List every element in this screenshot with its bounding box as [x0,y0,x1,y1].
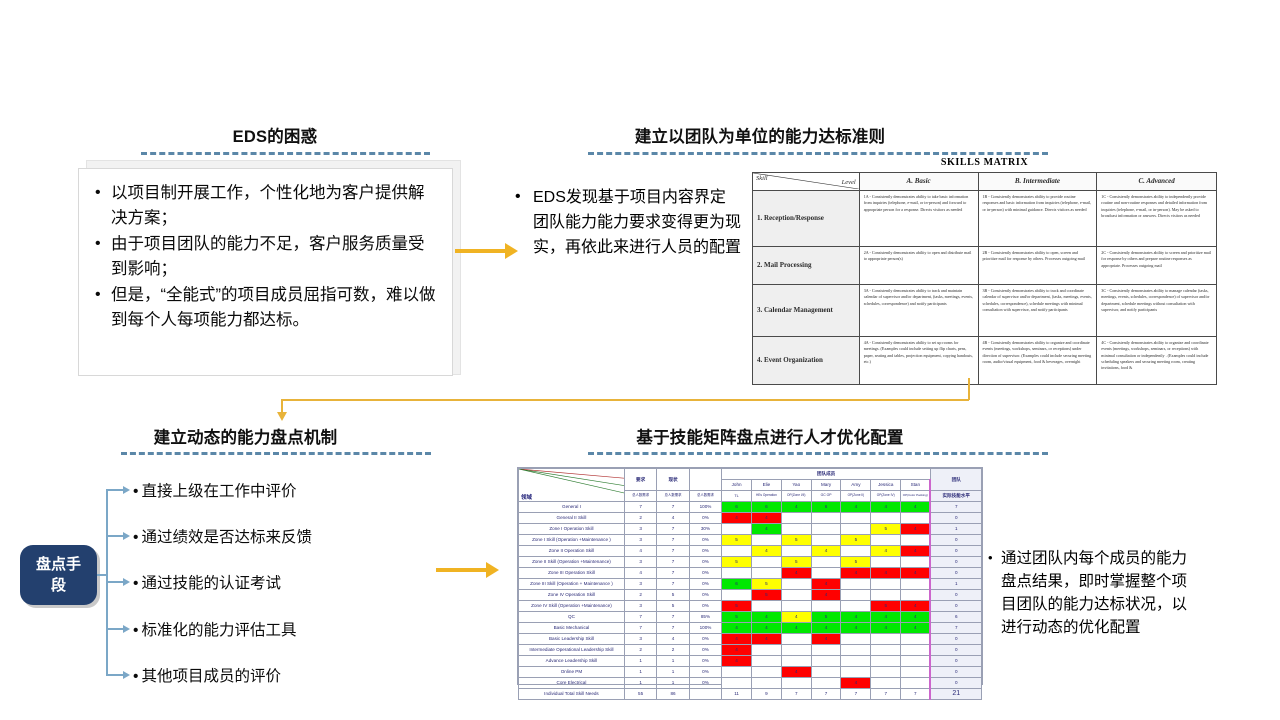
skill-percent: 0% [689,634,721,645]
header-requirement: 要求 [624,469,656,491]
process-item-3: 通过技能的认证考试 [133,571,281,593]
connector-arrow-head [277,412,287,421]
team-skill-level: 1 [930,579,981,590]
skill-level-cell: 4 [901,612,931,623]
skill-level-cell: 5 [871,601,901,612]
skill-level-cell [752,601,782,612]
skill-level-cell [841,634,871,645]
skill-level-cell: 4 [841,502,871,513]
team-skill-level: 0 [930,557,981,568]
process-branch-arrow [123,532,130,540]
process-branch-arrow [123,486,130,494]
skill-level-cell [871,535,901,546]
skill-current: 7 [657,568,689,579]
skill-inventory-table: 领域 要求 现状 团队成员 团队 John Elie Yao Mary Amy … [518,468,982,700]
skill-current: 4 [657,634,689,645]
skill-name: Basic Leadership Skill [519,634,625,645]
skill-current: 7 [657,535,689,546]
skill-required: 2 [624,513,656,524]
team-skill-level: 0 [930,546,981,557]
team-skill-level: 7 [930,623,981,634]
skill-current: 7 [657,502,689,513]
skill-required: 7 [624,502,656,513]
sheet-corner-label: 领域 [521,495,532,501]
table-header-row: 领域 要求 现状 团队成员 团队 [519,469,982,480]
member-name: Elie [752,480,782,491]
matrix-cell: 1A - Consistently demonstrates ability t… [859,190,978,246]
skill-current: 7 [657,546,689,557]
quadrant4-title: 基于技能矩阵盘点进行人才优化配置 [605,424,935,448]
skill-level-cell: 5 [722,612,752,623]
total-member: 11 [722,689,752,700]
skill-required: 7 [624,612,656,623]
skills-matrix: SKILLS MATRIX Skill Level A. Basic B. In… [752,156,1217,376]
total-member: 7 [841,689,871,700]
skill-level-cell [811,601,841,612]
skill-level-cell: 4 [781,568,811,579]
skill-percent: 0% [689,678,721,689]
skill-level-cell [781,601,811,612]
skill-level-cell [841,513,871,524]
table-row: Basic Leadership Skill340%4440 [519,634,982,645]
skill-current: 5 [657,590,689,601]
skill-current: 1 [657,667,689,678]
skill-level-cell: 5 [752,590,782,601]
skill-level-cell: 4 [901,524,931,535]
skill-level-cell [871,557,901,568]
skills-matrix-title: SKILLS MATRIX [752,157,1217,168]
team-skill-level: 0 [930,645,981,656]
skill-level-cell [781,656,811,667]
skill-level-cell: 4 [901,546,931,557]
member-role: HEs Operation [752,491,782,502]
skill-required: 3 [624,535,656,546]
skill-level-cell [781,645,811,656]
skill-level-cell: 4 [781,667,811,678]
skill-percent: 85% [689,612,721,623]
matrix-cell: 1C - Consistently demonstrates ability t… [1097,190,1217,246]
skill-level-cell [752,645,782,656]
skill-level-cell: 4 [811,546,841,557]
team-skill-level: 0 [930,568,981,579]
process-branch [106,535,124,537]
box-to-spine-connector [97,574,107,576]
process-item-2: 通过绩效是否达标来反馈 [133,525,312,547]
arrow-shaft [436,568,488,572]
skill-level-cell: 4 [811,590,841,601]
skill-current: 5 [657,601,689,612]
skill-required: 2 [624,590,656,601]
skill-level-cell [811,678,841,689]
member-role: TL [722,491,752,502]
skill-percent: 100% [689,623,721,634]
member-name: Stan [901,480,931,491]
matrix-level-label: Level [842,178,856,188]
quadrant4-bullet: 通过团队内每个成员的能力盘点结果，即时掌握整个项目团队的能力达标状况，以进行动态… [988,547,1193,639]
member-name: Yao [781,480,811,491]
skill-level-cell [901,656,931,667]
quadrant1-card: 以项目制开展工作，个性化地为客户提供解决方案； 由于项目团队的能力不足，客户服务… [78,168,453,376]
team-skill-level: 6 [930,612,981,623]
skill-level-cell: 4 [811,634,841,645]
connector-vertical-right [968,378,970,400]
table-row: Zone II Operation Skill470%44440 [519,546,982,557]
matrix-cell: 3C - Consistently demonstrates ability t… [1097,284,1217,336]
team-skill-level: 0 [930,513,981,524]
table-row: General II Skill240%440 [519,513,982,524]
skill-level-cell: 4 [722,634,752,645]
skill-level-cell [841,645,871,656]
total-member: 7 [781,689,811,700]
skill-percent: 0% [689,546,721,557]
skill-percent: 0% [689,656,721,667]
total-team: 21 [930,689,981,700]
process-branch-arrow [123,578,130,586]
skill-level-cell [722,667,752,678]
skill-level-cell [722,568,752,579]
team-skill-level: 0 [930,634,981,645]
team-skill-level: 0 [930,667,981,678]
skill-level-cell [871,678,901,689]
skill-level-cell [811,513,841,524]
skill-level-cell: 4 [841,623,871,634]
skill-level-cell: 4 [871,568,901,579]
skill-level-cell [752,656,782,667]
skill-required: 1 [624,678,656,689]
skill-current: 7 [657,623,689,634]
skill-level-cell: 5 [752,579,782,590]
skill-level-cell [901,513,931,524]
skill-name: Advance Leadership Skill [519,656,625,667]
list-item: 以项目制开展工作，个性化地为客户提供解决方案； [91,181,438,231]
matrix-cell: 4B - Consistently demonstrates ability t… [978,336,1097,384]
skill-current: 1 [657,678,689,689]
table-row: Zone III Skill (Operation + Maintenance … [519,579,982,590]
skill-required: 4 [624,568,656,579]
member-name: Amy [841,480,871,491]
skill-level-cell: 4 [752,623,782,634]
skill-level-cell: 4 [752,634,782,645]
total-member: 9 [752,689,782,700]
skill-level-cell [811,557,841,568]
matrix-cell: 3A - Consistently demonstrates ability t… [859,284,978,336]
skill-level-cell [752,535,782,546]
table-total-row: Individual Total Skill Needs558611977777… [519,689,982,700]
quadrant3-divider [121,452,431,455]
quadrant1-bullet-list: 以项目制开展工作，个性化地为客户提供解决方案； 由于项目团队的能力不足，客户服务… [91,181,438,333]
skill-percent: 0% [689,568,721,579]
skill-level-cell [901,579,931,590]
skill-level-cell [722,678,752,689]
skill-level-cell: 4 [752,513,782,524]
matrix-row-label: 2. Mail Processing [753,246,860,284]
header-current: 现状 [657,469,689,491]
table-header-row: Skill Level A. Basic B. Intermediate C. … [753,173,1217,191]
skill-level-cell [841,601,871,612]
skill-current: 7 [657,579,689,590]
skill-level-cell: 4 [752,546,782,557]
skill-name: Zone I Operation Skill [519,524,625,535]
skill-percent: 0% [689,667,721,678]
matrix-cell: 2C - Consistently demonstrates ability t… [1097,246,1217,284]
skill-name: Zone II Operation Skill [519,546,625,557]
table-row: 2. Mail Processing 2A - Consistently dem… [753,246,1217,284]
header-team-members: 团队成员 [722,469,931,480]
skill-required: 3 [624,634,656,645]
skill-name: Zone III Skill (Operation + Maintenance … [519,579,625,590]
skill-level-cell: 6 [752,502,782,513]
skill-level-cell [811,524,841,535]
table-row: Online PM110%40 [519,667,982,678]
quadrant4-divider [588,452,1048,455]
skill-level-cell [901,678,931,689]
inventory-method-label: 盘点手段 [33,554,85,596]
skill-percent: 0% [689,557,721,568]
skill-name: Basic Mechanical [519,623,625,634]
skill-current: 4 [657,513,689,524]
matrix-skill-label: Skill [756,174,768,184]
process-item-1: 直接上级在工作中评价 [133,479,296,501]
skill-name: Zone I Skill (Operation +Maintenance ) [519,535,625,546]
skill-inventory-sheet: 领域 要求 现状 团队成员 团队 John Elie Yao Mary Amy … [517,467,983,685]
skill-level-cell [871,513,901,524]
skill-level-cell [871,656,901,667]
skill-level-cell: 4 [811,623,841,634]
skill-level-cell [841,656,871,667]
skill-name: Zone II Skill (Operation +Maintenance) [519,557,625,568]
arrow-q1-to-q2 [455,243,520,259]
skill-level-cell: 6 [811,502,841,513]
matrix-cell: 4C - Consistently demonstrates ability t… [1097,336,1217,384]
header-pct-blank [689,469,721,491]
skill-current: 7 [657,557,689,568]
process-item-5: 其他项目成员的评价 [133,664,281,686]
skill-level-cell [781,678,811,689]
skill-level-cell: 4 [722,656,752,667]
skill-required: 3 [624,557,656,568]
arrow-q3-to-q4 [436,562,504,578]
skill-percent: 30% [689,524,721,535]
matrix-row-label: 4. Event Organization [753,336,860,384]
skill-level-cell: 4 [781,502,811,513]
table-row: QC7785%54454446 [519,612,982,623]
skill-level-cell: 5 [722,601,752,612]
skill-level-cell [841,524,871,535]
skill-level-cell [781,524,811,535]
table-row: Advance Leadership Skill110%40 [519,656,982,667]
skill-level-cell: 4 [841,612,871,623]
process-branch-arrow [123,625,130,633]
skill-name: Zone IV Operation Skill [519,590,625,601]
team-skill-level: 7 [930,502,981,513]
process-branch [106,489,124,491]
skill-level-cell [781,546,811,557]
skill-name: General II Skill [519,513,625,524]
skill-level-cell: 4 [722,645,752,656]
skill-rows-body: General I77100%66464447General II Skill2… [519,502,982,700]
skill-level-cell: 4 [781,623,811,634]
skill-current: 1 [657,656,689,667]
table-row: Intermediate Operational Leadership Skil… [519,645,982,656]
table-row: 4. Event Organization 4A - Consistently … [753,336,1217,384]
member-role: OP(Zone I/II) [781,491,811,502]
skill-required: 4 [624,546,656,557]
member-role: OP(Zone II) [841,491,871,502]
process-branch [106,628,124,630]
skill-level-cell [901,557,931,568]
skill-level-cell: 5 [722,557,752,568]
skill-name: QC [519,612,625,623]
skill-level-cell [722,590,752,601]
skill-level-cell: 4 [752,612,782,623]
skill-level-cell: 6 [722,579,752,590]
skill-name: General I [519,502,625,513]
skill-level-cell [901,535,931,546]
skill-level-cell: 4 [841,568,871,579]
header-team-col-top: 团队 [930,469,981,491]
skill-level-cell [811,667,841,678]
skill-level-cell: 4 [901,601,931,612]
quadrant2-bullet: EDS发现基于项目内容界定团队能力能力要求变得更为现实，再依此来进行人员的配置 [513,185,741,260]
quadrant2-title: 建立以团队为单位的能力达标准则 [595,123,925,147]
skill-required: 2 [624,645,656,656]
sub-header-cur: 总人数需求 [657,491,689,502]
skill-required: 3 [624,524,656,535]
skill-level-cell [781,579,811,590]
skill-required: 1 [624,656,656,667]
quadrant1-divider [141,152,430,155]
skill-level-cell [811,645,841,656]
skill-level-cell [752,557,782,568]
skill-level-cell [781,513,811,524]
skill-level-cell: 5 [781,557,811,568]
list-item: 但是，“全能式”的项目成员屈指可数，难以做到每个人每项能力都达标。 [91,283,438,333]
corner-diagonal: Skill Level [753,173,859,189]
member-role: OP(Zone IV) [871,491,901,502]
quadrant3-title: 建立动态的能力盘点机制 [128,424,363,448]
sub-header-pct: 总人数需求 [689,491,721,502]
team-skill-level: 1 [930,524,981,535]
skill-level-cell: 4 [871,623,901,634]
skill-level-cell [871,590,901,601]
team-skill-level: 0 [930,656,981,667]
process-branch [106,674,124,676]
skill-name: Zone IV Skill (Operation +Maintenance) [519,601,625,612]
skill-level-cell [752,667,782,678]
skill-required: 7 [624,623,656,634]
matrix-cell: 2B - Consistently demonstrates ability t… [978,246,1097,284]
skill-level-cell: 4 [871,546,901,557]
skill-level-cell [901,590,931,601]
skill-percent: 0% [689,535,721,546]
inventory-method-box: 盘点手段 [20,545,97,605]
matrix-row-label: 1. Reception/Response [753,190,860,246]
team-skill-level: 0 [930,590,981,601]
table-row: General I77100%66464447 [519,502,982,513]
team-skill-level: 0 [930,678,981,689]
skill-level-cell [871,579,901,590]
quadrant2-divider [588,152,1048,155]
matrix-row-label: 3. Calendar Management [753,284,860,336]
skill-percent: 0% [689,645,721,656]
total-label: Individual Total Skill Needs [519,689,625,700]
skill-level-cell [752,568,782,579]
member-role: OP(Color Packing) [901,491,931,502]
skill-level-cell: 4 [901,502,931,513]
table-row: 3. Calendar Management 3A - Consistently… [753,284,1217,336]
skill-level-cell [781,590,811,601]
skill-level-cell: 4 [811,579,841,590]
member-name: Jessica [871,480,901,491]
skill-level-cell: 4 [781,612,811,623]
skill-level-cell: 5 [841,557,871,568]
skill-name: Core Electrical [519,678,625,689]
arrow-head [486,562,499,578]
matrix-cell: 3B - Consistently demonstrates ability t… [978,284,1097,336]
team-skill-level: 0 [930,535,981,546]
arrow-shaft [455,249,507,253]
matrix-cell: 1B - Consistently demonstrates ability t… [978,190,1097,246]
total-member: 7 [811,689,841,700]
table-row: Zone IV Skill (Operation +Maintenance)35… [519,601,982,612]
quadrant1-title: EDS的困惑 [155,123,395,147]
skill-percent: 0% [689,579,721,590]
total-required: 55 [624,689,656,700]
skill-level-cell: 5 [781,535,811,546]
skill-level-cell [811,568,841,579]
skill-level-cell [722,546,752,557]
table-row: Basic Mechanical77100%44444447 [519,623,982,634]
total-percent [689,689,721,700]
matrix-corner-cell: Skill Level [753,173,860,191]
skill-current: 7 [657,612,689,623]
skill-level-cell: 5 [811,612,841,623]
total-member: 7 [901,689,931,700]
skill-percent: 0% [689,601,721,612]
total-member: 7 [871,689,901,700]
matrix-col-advanced: C. Advanced [1097,173,1217,191]
skill-level-cell [871,667,901,678]
matrix-col-basic: A. Basic [859,173,978,191]
skill-current: 2 [657,645,689,656]
process-branch [106,581,124,583]
skill-level-cell: 5 [722,535,752,546]
skill-percent: 0% [689,590,721,601]
skill-level-cell: 5 [841,535,871,546]
skill-level-cell [811,535,841,546]
sheet-corner-cell: 领域 [519,469,625,502]
skill-level-cell: 4 [722,513,752,524]
skill-name: Online PM [519,667,625,678]
member-name: Mary [811,480,841,491]
skill-percent: 0% [689,513,721,524]
total-current: 86 [657,689,689,700]
list-item: 由于项目团队的能力不足，客户服务质量受到影响； [91,232,438,282]
sub-header-req: 总人数需求 [624,491,656,502]
process-branch-arrow [123,671,130,679]
skill-level-cell [841,546,871,557]
skills-matrix-table: Skill Level A. Basic B. Intermediate C. … [752,172,1217,385]
table-row: Zone II Skill (Operation +Maintenance)37… [519,557,982,568]
skill-level-cell: 4 [901,568,931,579]
table-row: 1. Reception/Response 1A - Consistently … [753,190,1217,246]
matrix-cell: 2A - Consistently demonstrates ability t… [859,246,978,284]
skill-required: 1 [624,667,656,678]
skill-level-cell [722,524,752,535]
skill-level-cell [901,634,931,645]
skill-level-cell: 4 [722,623,752,634]
table-row: Zone III Operation Skill470%44440 [519,568,982,579]
